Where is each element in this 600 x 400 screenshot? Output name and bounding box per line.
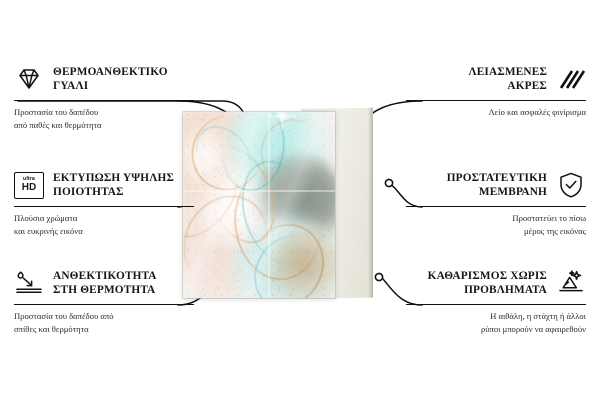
feature-title: ΘΕΡΜΟΑΝΘΕΚΤΙΚΟ ΓΥΑΛΙ bbox=[53, 65, 168, 93]
divider bbox=[406, 304, 586, 305]
feature-title: ΕΚΤΥΠΩΣΗ ΥΨΗΛΗΣ ΠΟΙΟΤΗΤΑΣ bbox=[53, 171, 174, 199]
diamond-icon bbox=[14, 64, 44, 94]
feature-title: ΛΕΙΑΣΜΕΝΕΣ ΑΚΡΕΣ bbox=[468, 65, 547, 93]
divider bbox=[406, 206, 586, 207]
shield-check-icon bbox=[556, 170, 586, 200]
diagonal-stripes-icon bbox=[556, 64, 586, 94]
flame-deflect-icon bbox=[14, 268, 44, 298]
feature-heat-durability: ΑΝΘΕΚΤΙΚΟΤΗΤΑ ΣΤΗ ΘΕΡΜΟΤΗΤΑ Προστασία το… bbox=[14, 266, 194, 335]
feature-smoothed-edges: ΛΕΙΑΣΜΕΝΕΣ ΑΚΡΕΣ Λείο και ασφαλές φινίρι… bbox=[406, 62, 586, 119]
feature-title: ΑΝΘΕΚΤΙΚΟΤΗΤΑ ΣΤΗ ΘΕΡΜΟΤΗΤΑ bbox=[53, 269, 157, 297]
product-image bbox=[183, 112, 395, 300]
divider bbox=[406, 100, 586, 101]
glass-panel bbox=[183, 112, 335, 298]
marble-artwork bbox=[183, 112, 335, 298]
divider bbox=[14, 206, 194, 207]
feature-description: Προστατεύει το πίσω μέρος της εικόνας bbox=[406, 212, 586, 236]
divider bbox=[14, 100, 194, 101]
feature-title: ΚΑΘΑΡΙΣΜΟΣ ΧΩΡΙΣ ΠΡΟΒΛΗΜΑΤΑ bbox=[428, 269, 547, 297]
divider bbox=[14, 304, 194, 305]
feature-protective-membrane: ΠΡΟΣΤΑΤΕΥΤΙΚΗ ΜΕΜΒΡΑΝΗ Προστατεύει το πί… bbox=[406, 168, 586, 237]
ultra-hd-badge-icon: ultra HD bbox=[14, 170, 44, 200]
infographic-canvas: ΘΕΡΜΟΑΝΘΕΚΤΙΚΟ ΓΥΑΛΙ Προστασία του δαπέδ… bbox=[0, 0, 600, 400]
feature-description: Λείο και ασφαλές φινίρισμα bbox=[406, 106, 586, 118]
feature-heat-resistant-glass: ΘΕΡΜΟΑΝΘΕΚΤΙΚΟ ΓΥΑΛΙ Προστασία του δαπέδ… bbox=[14, 62, 194, 131]
feature-title: ΠΡΟΣΤΑΤΕΥΤΙΚΗ ΜΕΜΒΡΑΝΗ bbox=[447, 171, 547, 199]
feature-description: Πλούσια χρώματα και ευκρινής εικόνα bbox=[14, 212, 194, 236]
highlight-glint bbox=[274, 112, 290, 124]
feature-hassle-free-cleaning: ΚΑΘΑΡΙΣΜΟΣ ΧΩΡΙΣ ΠΡΟΒΛΗΜΑΤΑ Η αιθάλη, η … bbox=[406, 266, 586, 335]
sparkle-wipe-icon bbox=[556, 268, 586, 298]
feature-high-quality-print: ultra HD ΕΚΤΥΠΩΣΗ ΥΨΗΛΗΣ ΠΟΙΟΤΗΤΑΣ Πλούσ… bbox=[14, 168, 194, 237]
feature-description: Προστασία του δαπέδου από σπίθες και θερ… bbox=[14, 310, 194, 334]
feature-description: Η αιθάλη, η στάχτη ή άλλοι ρύποι μπορούν… bbox=[406, 310, 586, 334]
feature-description: Προστασία του δαπέδου από παθές και θερμ… bbox=[14, 106, 194, 130]
